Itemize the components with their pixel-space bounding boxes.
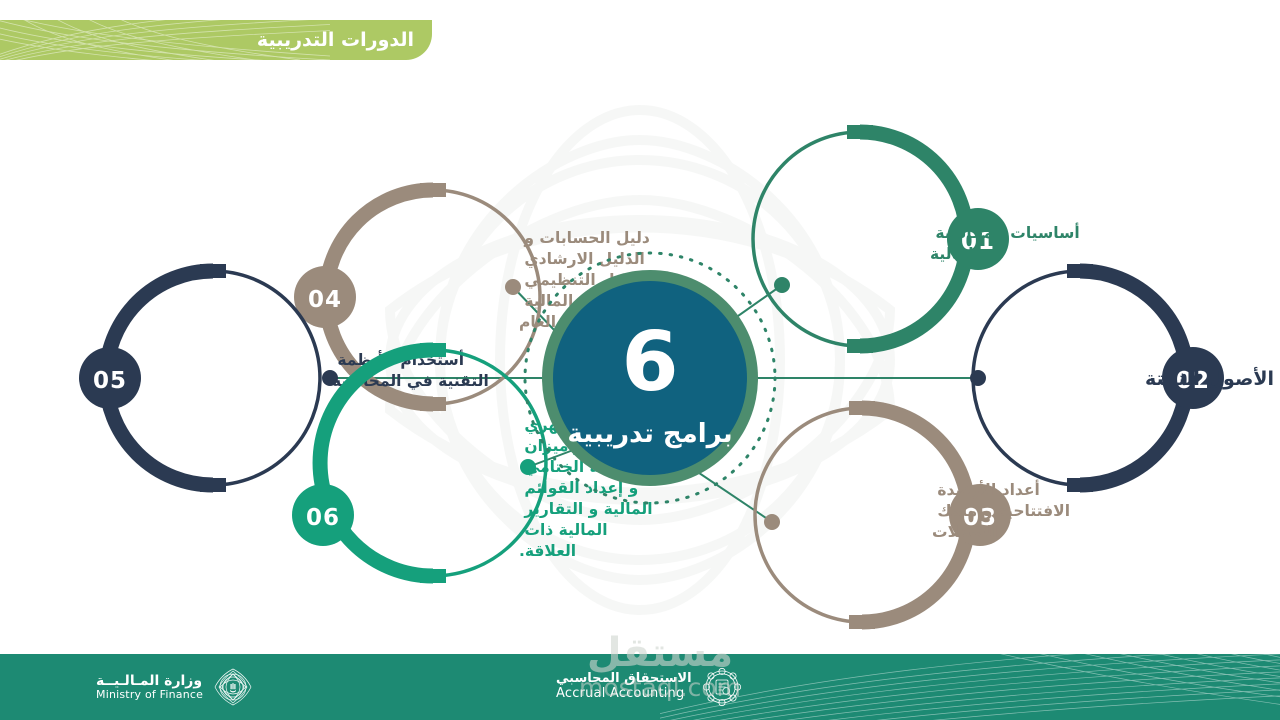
ministry-of-finance-logo: وزارة المـالـيــة Ministry of Finance: [96, 654, 255, 720]
node-05[interactable]: 05 أستخدام الأنظمة التقنية في المحاسبة: [79, 264, 489, 492]
infographic-diagram: 04 دليل الحسابات و الدليل الارشادي للهيك…: [0, 60, 1280, 650]
center-label: برامج تدريبية: [567, 419, 732, 449]
node-03-connector-dot: [764, 514, 780, 530]
node-02-connector-dot: [970, 370, 986, 386]
ministry-name-arabic: وزارة المـالـيــة: [96, 673, 202, 689]
node-01[interactable]: 01 أساسيات المحاسبة المالية: [753, 125, 1080, 353]
accrual-name-arabic: الاستحقاق المحاسبي: [556, 672, 692, 687]
node-06-number: 06: [306, 505, 340, 531]
page-title: الدورات التدريبية: [257, 20, 414, 60]
node-05-number: 05: [93, 368, 127, 394]
center-hub[interactable]: 6 برامج تدريبية: [525, 253, 775, 503]
header-bar: الدورات التدريبية: [0, 20, 432, 60]
footer-bar: وزارة المـالـيــة Ministry of Finance: [0, 654, 1280, 720]
slide-canvas: الدورات التدريبية 04 دليل الحسابات و: [0, 0, 1280, 720]
node-02[interactable]: 02 الأصول الثابتة: [970, 264, 1274, 492]
center-number: 6: [621, 315, 678, 410]
accrual-accounting-logo: الاستحقاق المحاسبي Accrual Accounting: [556, 654, 743, 720]
ministry-name-english: Ministry of Finance: [96, 689, 203, 702]
saudi-mof-rosette-icon: [211, 665, 255, 709]
node-04-number: 04: [308, 287, 342, 313]
accrual-name-english: Accrual Accounting: [556, 687, 684, 702]
node-02-label: الأصول الثابتة: [1145, 367, 1274, 390]
node-03[interactable]: 03 أعداد الأرصدة الافتتاحية و مسك السجلا…: [755, 401, 1070, 629]
accrual-accounting-emblem-icon: [701, 666, 743, 708]
footer-line-pattern: [660, 654, 1280, 720]
node-01-connector-dot: [774, 277, 790, 293]
